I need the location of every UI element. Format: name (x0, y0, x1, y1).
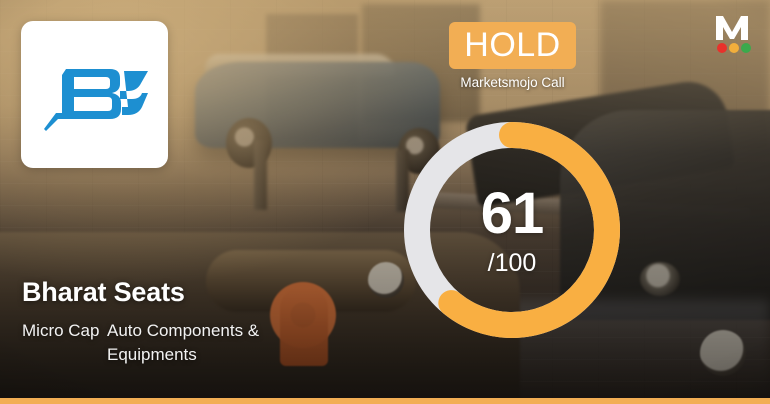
bottom-accent-bar (0, 398, 770, 404)
sector-label: Auto Components & Equipments (107, 319, 287, 366)
company-logo-card (21, 21, 168, 168)
gauge-center-readout: 61 /100 (400, 118, 624, 342)
brand-dot-red (717, 43, 727, 53)
company-name: Bharat Seats (22, 277, 287, 308)
score-out-of: /100 (488, 251, 537, 276)
call-caption: Marketsmojo Call (449, 75, 576, 90)
brand-dot-amber (729, 43, 739, 53)
market-cap-label: Micro Cap (22, 319, 107, 366)
company-info: Bharat Seats Micro Cap Auto Components &… (22, 277, 287, 366)
score-value: 61 (481, 185, 544, 243)
brand-dot-green (741, 43, 751, 53)
call-verdict-badge[interactable]: HOLD (449, 22, 576, 69)
marketsmojo-brand-logo[interactable] (710, 12, 754, 54)
marketsmojo-call-block: HOLD Marketsmojo Call (449, 22, 576, 90)
mojo-score-gauge: 61 /100 (400, 118, 624, 342)
stock-summary-card: HOLD Marketsmojo Call 61 /100 Bharat Sea… (0, 0, 770, 404)
company-meta-row: Micro Cap Auto Components & Equipments (22, 319, 287, 366)
bharat-seats-logo-icon (36, 51, 154, 139)
